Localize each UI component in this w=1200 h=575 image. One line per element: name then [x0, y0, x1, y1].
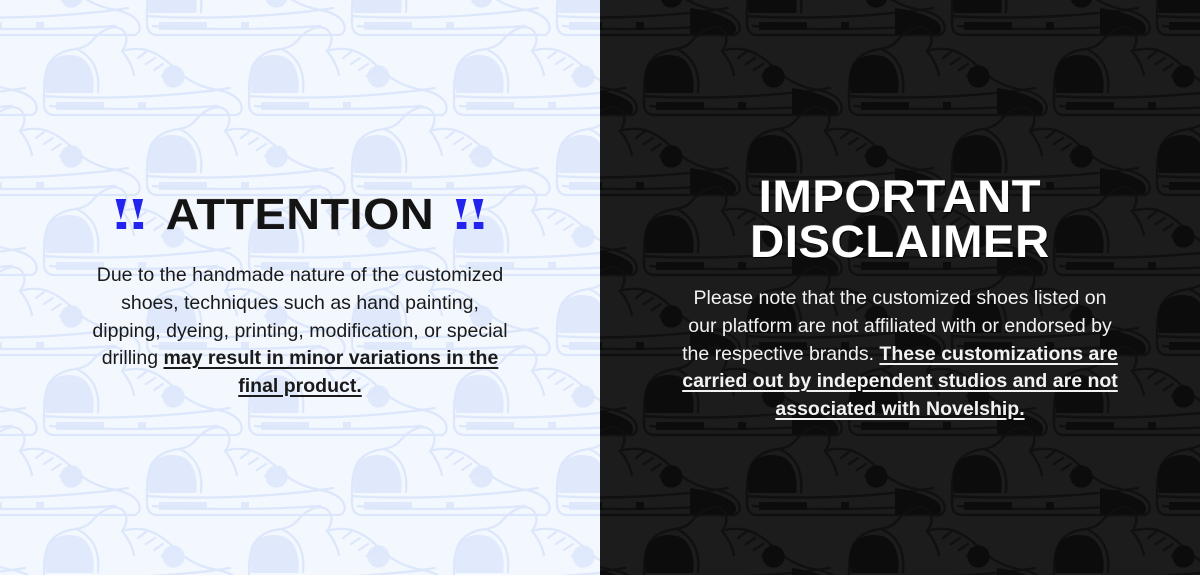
disclaimer-heading-line1: IMPORTANT [759, 175, 1041, 218]
disclaimer-panel: IMPORTANT DISCLAIMER Please note that th… [600, 0, 1200, 575]
attention-body: Due to the handmade nature of the custom… [85, 262, 515, 400]
disclaimer-heading-line2: DISCLAIMER [750, 220, 1050, 263]
disclaimer-heading: IMPORTANT DISCLAIMER [610, 175, 1190, 263]
attention-content: ATTENTION Due to the handmade nature of … [0, 0, 600, 401]
double-exclamation-left-icon [116, 199, 145, 229]
attention-heading-text: ATTENTION [166, 194, 434, 236]
disclaimer-content: IMPORTANT DISCLAIMER Please note that th… [600, 0, 1200, 424]
attention-body-emphasis: may result in minor variations in the fi… [163, 347, 498, 397]
attention-panel: ATTENTION Due to the handmade nature of … [0, 0, 600, 575]
double-exclamation-right-icon [455, 199, 484, 229]
disclaimer-banner: ATTENTION Due to the handmade nature of … [0, 0, 1200, 575]
attention-heading: ATTENTION [7, 194, 592, 236]
disclaimer-body: Please note that the customized shoes li… [679, 285, 1121, 423]
